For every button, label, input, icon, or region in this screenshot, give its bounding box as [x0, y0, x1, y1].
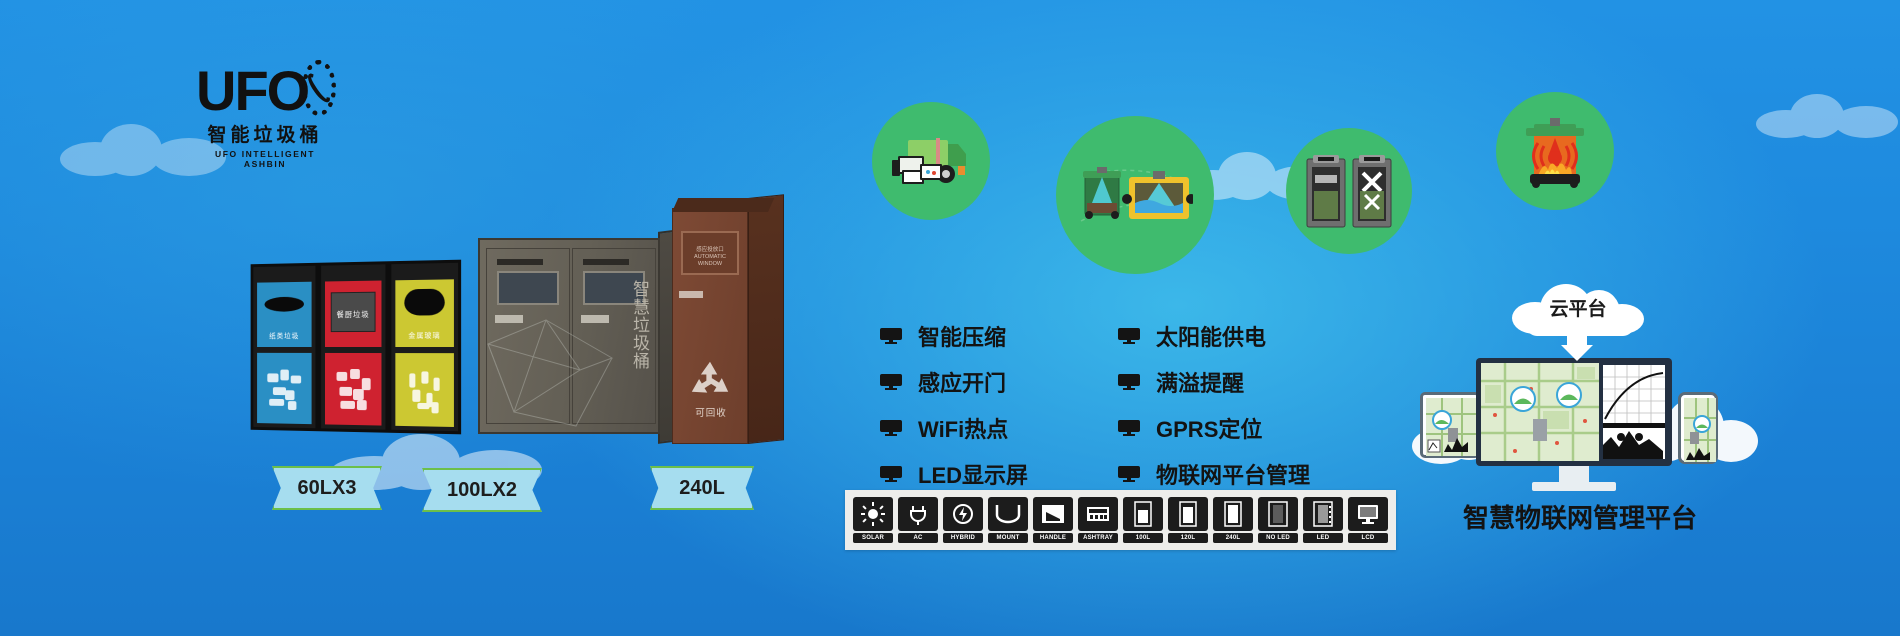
spec-label: 240L [1213, 533, 1253, 543]
product-lineup: 纸类垃圾 餐厨垃圾 金属玻璃 [0, 0, 820, 560]
spec-item-ashtray: ASHTRAY [1078, 497, 1118, 543]
capacity-ribbon-60lx3: 60LX3 [272, 466, 382, 510]
feature-label: 满溢提醒 [1156, 366, 1244, 398]
feature-item: 智能压缩 [880, 320, 1028, 352]
compartment-label-paper: 纸类垃圾 [257, 331, 312, 341]
monitor-stand-neck [1559, 466, 1589, 482]
monitor-stand-base [1532, 482, 1616, 491]
spec-item-lcd: LCD [1348, 497, 1388, 543]
compartment-label-metal: 金属玻璃 [395, 331, 454, 341]
solar-sun-icon [853, 497, 893, 531]
feature-circle-fill-sensing [1056, 116, 1214, 274]
bin-three-compartment: 纸类垃圾 餐厨垃圾 金属玻璃 [251, 260, 464, 435]
monitor-bullet-icon [880, 328, 902, 344]
auto-window-screen: 感应投放口 AUTOMATIC WINDOW [681, 231, 739, 275]
spec-item-ac: AC [898, 497, 938, 543]
compression-bins-icon [1303, 151, 1395, 231]
hybrid-power-icon [943, 497, 983, 531]
ac-plug-icon [898, 497, 938, 531]
monitor-bullet-icon [880, 420, 902, 436]
cloud-decoration-right [1756, 92, 1900, 142]
feature-label: 智能压缩 [918, 320, 1006, 352]
screen-text-cn: 感应投放口 [683, 247, 737, 254]
spec-item-handle: HANDLE [1033, 497, 1073, 543]
feature-label: LED显示屏 [918, 458, 1028, 490]
feature-label: 物联网平台管理 [1156, 458, 1310, 490]
monitor-bullet-icon [1118, 374, 1140, 390]
feature-item: 感应开门 [880, 366, 1028, 398]
desktop-monitor [1476, 358, 1672, 491]
capacity-ribbon-100lx2: 100LX2 [422, 468, 542, 512]
spec-item-mount: MOUNT [988, 497, 1028, 543]
feature-item: 物联网平台管理 [1118, 458, 1310, 490]
spec-label: 100L [1123, 533, 1163, 543]
spec-item-240l: 240L [1213, 497, 1253, 543]
recycle-icon [688, 359, 732, 399]
feature-circle-fire-alarm [1496, 92, 1614, 210]
capacity-ribbon-240l: 240L [650, 466, 754, 510]
monitor-bullet-icon [1118, 466, 1140, 482]
tablet-device [1420, 392, 1480, 458]
bin-double-gray: 智慧垃圾桶 [478, 238, 660, 434]
bin-panel-label: 可回收 [673, 405, 749, 419]
capacity-label: 60LX3 [298, 477, 357, 500]
spec-label: NO LED [1258, 533, 1298, 543]
polygon-graphic [484, 300, 644, 430]
monitor-bullet-icon [880, 466, 902, 482]
smartphone-device [1678, 392, 1718, 464]
dashboard-content [1481, 363, 1667, 461]
platform-title: 智慧物联网管理平台 [1448, 498, 1712, 535]
product-banner: UFO 智能垃圾桶 UFO INTELLIGENT ASHBIN 纸类垃圾 [0, 0, 1900, 636]
feature-item: 太阳能供电 [1118, 320, 1310, 352]
capacity-label: 100LX2 [447, 479, 517, 502]
cloud-platform-label: 云平台 [1518, 280, 1638, 334]
bin-240l-icon [1213, 497, 1253, 531]
spec-item-solar: SOLAR [853, 497, 893, 543]
ultrasonic-fill-sensor-icon [1077, 159, 1193, 231]
spec-icon-strip: SOLAR AC HYBRID MOUNT [845, 490, 1396, 550]
spec-item-120l: 120L [1168, 497, 1208, 543]
monitor-bullet-icon [880, 374, 902, 390]
fire-alarm-bin-icon [1516, 112, 1594, 190]
monitor-bullet-icon [1118, 328, 1140, 344]
compartment-label-kitchen: 餐厨垃圾 [325, 309, 381, 320]
spec-label: 120L [1168, 533, 1208, 543]
spec-item-no-led: NO LED [1258, 497, 1298, 543]
feature-label: WiFi热点 [918, 412, 1008, 444]
monitor-bullet-icon [1118, 420, 1140, 436]
feature-circle-fleet-monitoring [872, 102, 990, 220]
feature-label: 感应开门 [918, 366, 1006, 398]
bin-100l-icon [1123, 497, 1163, 531]
bin-brown-recyclable: 感应投放口 AUTOMATIC WINDOW 可回收 [672, 198, 784, 444]
spec-label: MOUNT [988, 533, 1028, 543]
screen-text-en: AUTOMATIC WINDOW [683, 254, 737, 268]
iot-platform-graphic: 云平台 [1430, 280, 1730, 510]
card-reader-icon [679, 291, 703, 298]
spec-item-led: LED [1303, 497, 1343, 543]
capacity-label: 240L [679, 477, 725, 500]
feature-column-left: 智能压缩 感应开门 WiFi热点 LED显示屏 [880, 320, 1028, 490]
spec-label: LCD [1348, 533, 1388, 543]
metal-slot-icon [405, 289, 445, 316]
feature-label: 太阳能供电 [1156, 320, 1266, 352]
handle-icon [1033, 497, 1073, 531]
feature-circle-compression [1286, 128, 1412, 254]
feature-list: 智能压缩 感应开门 WiFi热点 LED显示屏 太阳能供电 满溢提醒 [880, 320, 1310, 490]
feature-label: GPRS定位 [1156, 412, 1262, 444]
feature-item: WiFi热点 [880, 412, 1028, 444]
feature-column-right: 太阳能供电 满溢提醒 GPRS定位 物联网平台管理 [1118, 320, 1310, 490]
bin-120l-icon [1168, 497, 1208, 531]
monitor-screen [1476, 358, 1672, 466]
feature-item: GPRS定位 [1118, 412, 1310, 444]
spec-label: HYBRID [943, 533, 983, 543]
no-led-panel-icon [1258, 497, 1298, 531]
mount-bracket-icon [988, 497, 1028, 531]
oval-slot-icon [265, 296, 304, 311]
bin-vertical-text: 智慧垃圾桶 [630, 280, 650, 370]
feature-item: 满溢提醒 [1118, 366, 1310, 398]
lcd-screen-icon [1348, 497, 1388, 531]
spec-label: AC [898, 533, 938, 543]
spec-label: ASHTRAY [1078, 533, 1118, 543]
ashtray-icon [1078, 497, 1118, 531]
spec-item-hybrid: HYBRID [943, 497, 983, 543]
feature-item: LED显示屏 [880, 458, 1028, 490]
spec-item-100l: 100L [1123, 497, 1163, 543]
led-panel-icon [1303, 497, 1343, 531]
garbage-truck-monitor-icon [890, 130, 972, 192]
spec-label: LED [1303, 533, 1343, 543]
spec-label: HANDLE [1033, 533, 1073, 543]
spec-label: SOLAR [853, 533, 893, 543]
